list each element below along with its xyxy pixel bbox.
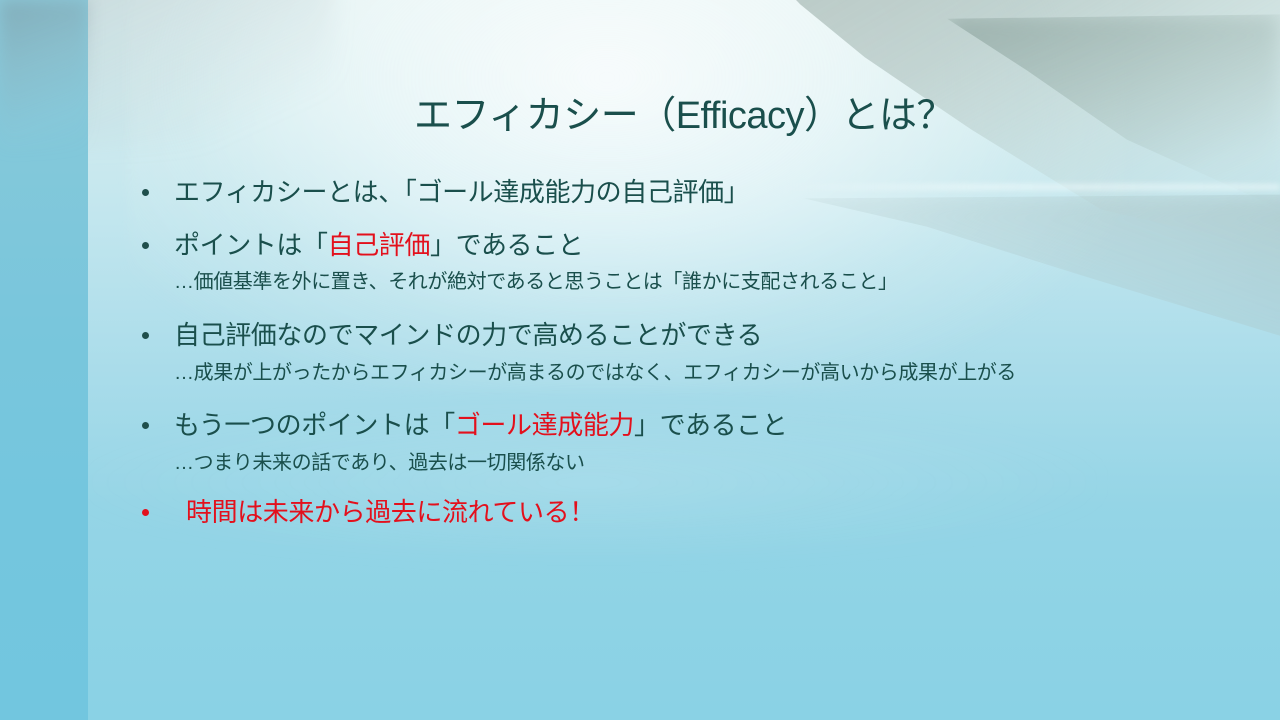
bullet-item-5-text: 時間は未来から過去に流れている！ — [174, 497, 595, 527]
bullet-item-3-text: 自己評価なのでマインドの力で高めることができる — [174, 320, 762, 350]
spacer — [128, 442, 1168, 450]
sub-bullet-item-2: …価値基準を外に置き、それが絶対であると思うことは「誰かに支配されること」 — [128, 269, 1168, 295]
bullet-item-2-prefix: ポイントは「 — [174, 230, 328, 260]
bullet-item-1-text: エフィカシーとは、「ゴール達成能力の自己評価」 — [174, 177, 749, 207]
bullet-dot-icon — [142, 242, 149, 249]
bullet-item-1: エフィカシーとは、「ゴール達成能力の自己評価」 — [128, 176, 1168, 209]
bullet-item-4-prefix: もう一つのポイントは「 — [174, 410, 455, 440]
bullet-list: エフィカシーとは、「ゴール達成能力の自己評価」 ポイントは「自己評価」であること… — [128, 176, 1168, 530]
bullet-item-5: 時間は未来から過去に流れている！ — [128, 496, 1168, 529]
bullet-item-2: ポイントは「自己評価」であること — [128, 229, 1168, 262]
bullet-dot-icon — [142, 332, 149, 339]
bullet-item-4-suffix: 」であること — [634, 410, 787, 440]
spacer — [128, 476, 1168, 496]
slide-content: エフィカシー（Efficacy）とは？ エフィカシーとは、「ゴール達成能力の自己… — [0, 0, 1280, 720]
bullet-dot-icon — [142, 422, 149, 429]
spacer — [128, 209, 1168, 229]
bullet-item-4-text: もう一つのポイントは「ゴール達成能力」であること — [174, 410, 787, 440]
slide-title: エフィカシー（Efficacy）とは？ — [88, 96, 1280, 138]
bullet-item-2-text: ポイントは「自己評価」であること — [174, 230, 583, 260]
bullet-dot-icon — [142, 509, 149, 516]
spacer — [128, 387, 1168, 409]
bullet-dot-icon — [142, 189, 149, 196]
bullet-item-4: もう一つのポイントは「ゴール達成能力」であること — [128, 409, 1168, 442]
spacer — [128, 352, 1168, 360]
sub-bullet-item-4: …つまり未来の話であり、過去は一切関係ない — [128, 450, 1168, 476]
bullet-item-2-suffix: 」であること — [430, 230, 583, 260]
slide-canvas: エフィカシー（Efficacy）とは？ エフィカシーとは、「ゴール達成能力の自己… — [0, 0, 1280, 720]
bullet-item-4-highlight: ゴール達成能力 — [455, 410, 634, 440]
spacer — [128, 295, 1168, 319]
bullet-item-3: 自己評価なのでマインドの力で高めることができる — [128, 319, 1168, 352]
sub-bullet-item-3: …成果が上がったからエフィカシーが高まるのではなく、エフィカシーが高いから成果が… — [128, 360, 1168, 386]
bullet-item-2-highlight: 自己評価 — [328, 230, 430, 260]
